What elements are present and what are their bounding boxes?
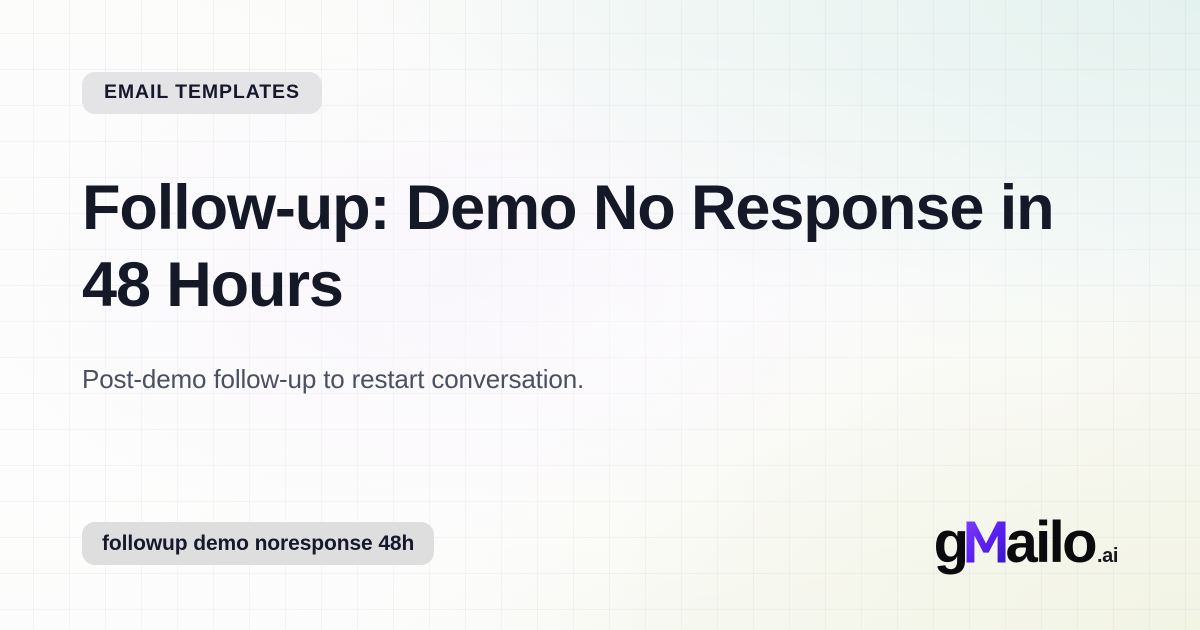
card-footer: followup demo noresponse 48h g [82,514,1118,572]
content-spacer [82,397,1118,514]
card-content: EMAIL TEMPLATES Follow-up: Demo No Respo… [0,0,1200,630]
gmailo-logo: g ailo .ai [934,514,1118,572]
page-subtitle: Post-demo follow-up to restart conversat… [82,362,1032,397]
logo-tld-suffix: .ai [1097,546,1118,566]
logo-letter-g: g [934,514,967,572]
template-tag-badge: followup demo noresponse 48h [82,522,434,565]
eyebrow-category-badge: EMAIL TEMPLATES [82,72,322,114]
page-title: Follow-up: Demo No Response in 48 Hours [82,170,1112,325]
logo-envelope-m-icon [966,520,1006,563]
logo-letters-ailo: ailo [1005,514,1095,572]
og-card: EMAIL TEMPLATES Follow-up: Demo No Respo… [0,0,1200,630]
